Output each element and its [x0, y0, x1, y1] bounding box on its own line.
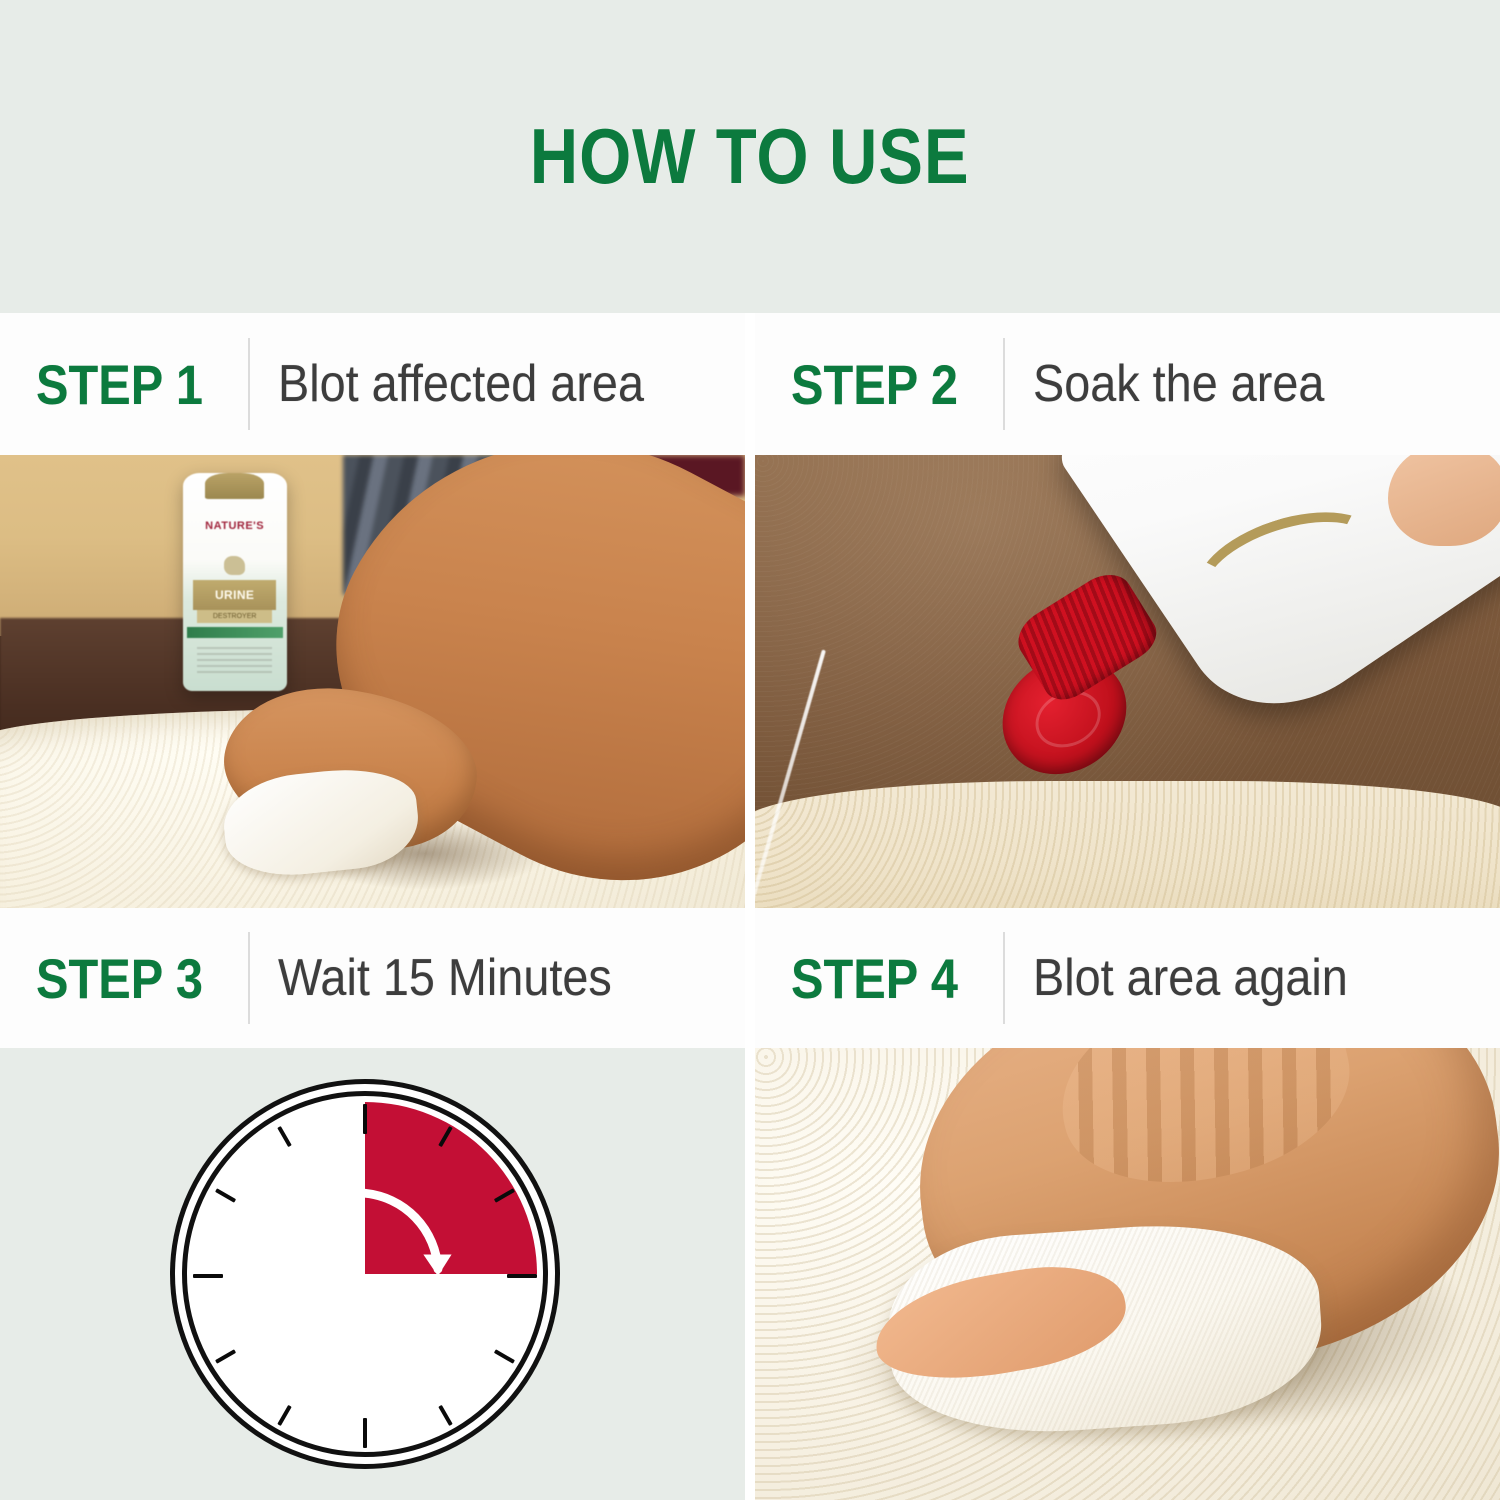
step-divider-2: [1003, 338, 1005, 430]
step-4-photo: [755, 1048, 1500, 1500]
column-gutter-bottom: [745, 908, 755, 1048]
step-number-4: STEP 4: [791, 946, 975, 1011]
infographic-page: HOW TO USE STEP 1 Blot affected area STE…: [0, 0, 1500, 1500]
step-label-3: Wait 15 Minutes: [278, 948, 612, 1008]
knuckles: [1044, 1048, 1367, 1208]
step-label-1: Blot affected area: [278, 354, 644, 414]
clock-icon: [182, 1091, 548, 1457]
step-header-2: STEP 2 Soak the area: [755, 313, 1500, 455]
product-bottle-icon: NATURE'S URINE DESTROYER: [183, 473, 287, 690]
bottle-brand-text: NATURE'S: [189, 521, 281, 533]
step-divider-4: [1003, 932, 1005, 1024]
step-divider-1: [248, 338, 250, 430]
bottle-product-text: URINE: [193, 580, 276, 610]
bottle-fine-print: [197, 647, 272, 677]
bottle-cap: [205, 473, 263, 499]
step-2-photo: NATURE'S MIRACLE: [755, 455, 1500, 908]
step-header-4: STEP 4 Blot area again: [755, 908, 1500, 1048]
step-header-1: STEP 1 Blot affected area: [0, 313, 745, 455]
bottle-green-band: [187, 627, 283, 638]
step-number-3: STEP 3: [36, 946, 220, 1011]
essential-oils-swoosh: [1182, 492, 1392, 640]
step-divider-3: [248, 932, 250, 1024]
step-header-3: STEP 3 Wait 15 Minutes: [0, 908, 745, 1048]
dog-silhouette-icon: [224, 556, 245, 576]
column-gutter-mid: [745, 455, 755, 908]
steps-grid: STEP 1 Blot affected area STEP 2 Soak th…: [0, 313, 1500, 1500]
page-header: HOW TO USE: [0, 0, 1500, 313]
step-number-1: STEP 1: [36, 352, 220, 417]
step-label-4: Blot area again: [1033, 948, 1348, 1008]
holding-fingers: [1388, 455, 1500, 546]
step-3-illustration: [0, 1048, 745, 1500]
step-1-photo: NATURE'S URINE DESTROYER: [0, 455, 745, 908]
column-gutter-bottom-2: [745, 1048, 755, 1500]
step-number-2: STEP 2: [791, 352, 975, 417]
bottle-product-subtext: DESTROYER: [197, 610, 272, 623]
step-label-2: Soak the area: [1033, 354, 1324, 414]
clock-arrow-icon: [187, 1096, 543, 1452]
shag-rug-edge: [755, 781, 1500, 908]
column-gutter-top: [745, 313, 755, 455]
page-title: HOW TO USE: [530, 111, 970, 202]
